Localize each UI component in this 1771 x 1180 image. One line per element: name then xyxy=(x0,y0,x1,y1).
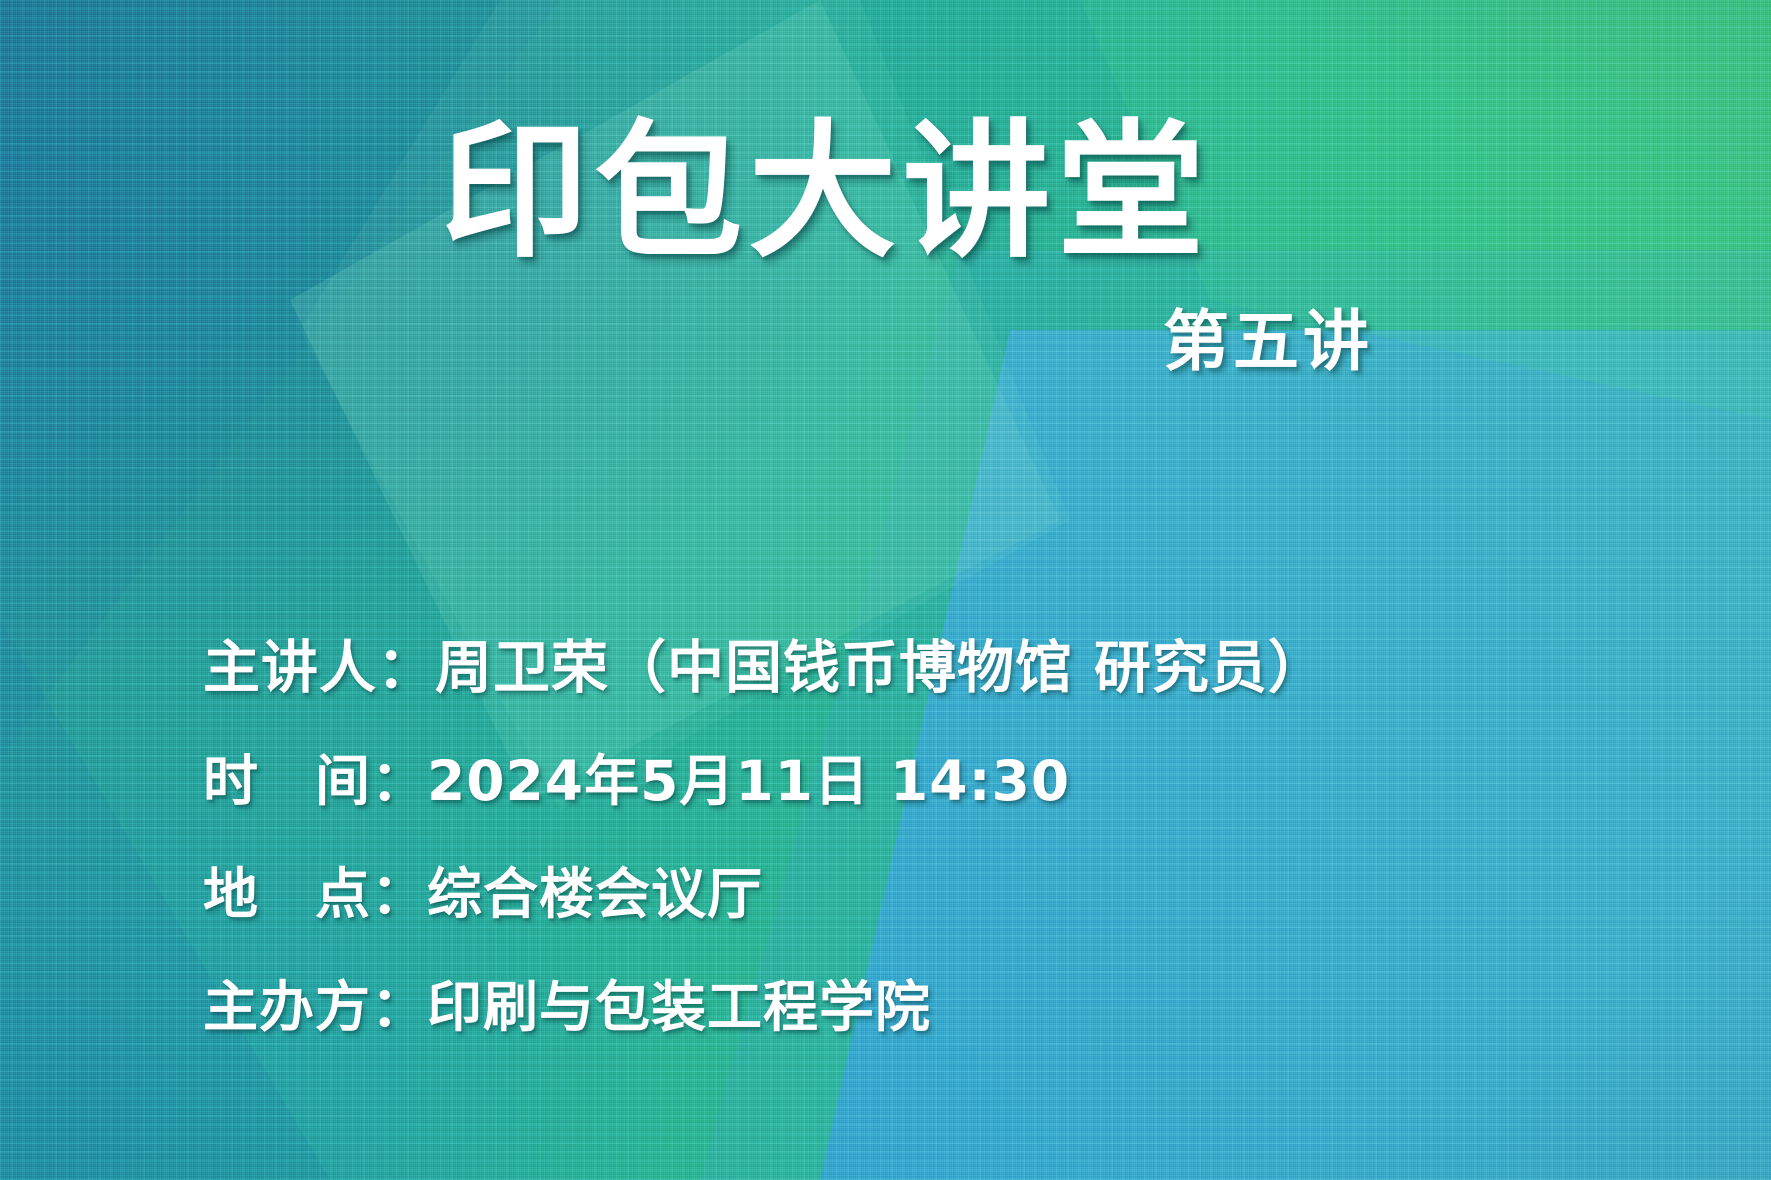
poster-title: 印包大讲堂 xyxy=(0,118,1651,266)
info-line-location: 地 点：综合楼会议厅 xyxy=(203,838,1326,951)
poster-canvas: 印包大讲堂 第五讲 主讲人：周卫荣（中国钱币博物馆 研究员） 时 间：2024年… xyxy=(0,0,1771,1180)
poster-subtitle: 第五讲 xyxy=(1163,288,1373,384)
info-line-host: 主办方：印刷与包装工程学院 xyxy=(203,951,1326,1064)
event-info-block: 主讲人：周卫荣（中国钱币博物馆 研究员） 时 间：2024年5月11日 14:3… xyxy=(203,612,1326,1064)
info-line-time: 时 间：2024年5月11日 14:30 xyxy=(203,725,1326,838)
info-line-speaker: 主讲人：周卫荣（中国钱币博物馆 研究员） xyxy=(203,612,1326,725)
poster-content: 印包大讲堂 第五讲 主讲人：周卫荣（中国钱币博物馆 研究员） 时 间：2024年… xyxy=(0,0,1771,1180)
